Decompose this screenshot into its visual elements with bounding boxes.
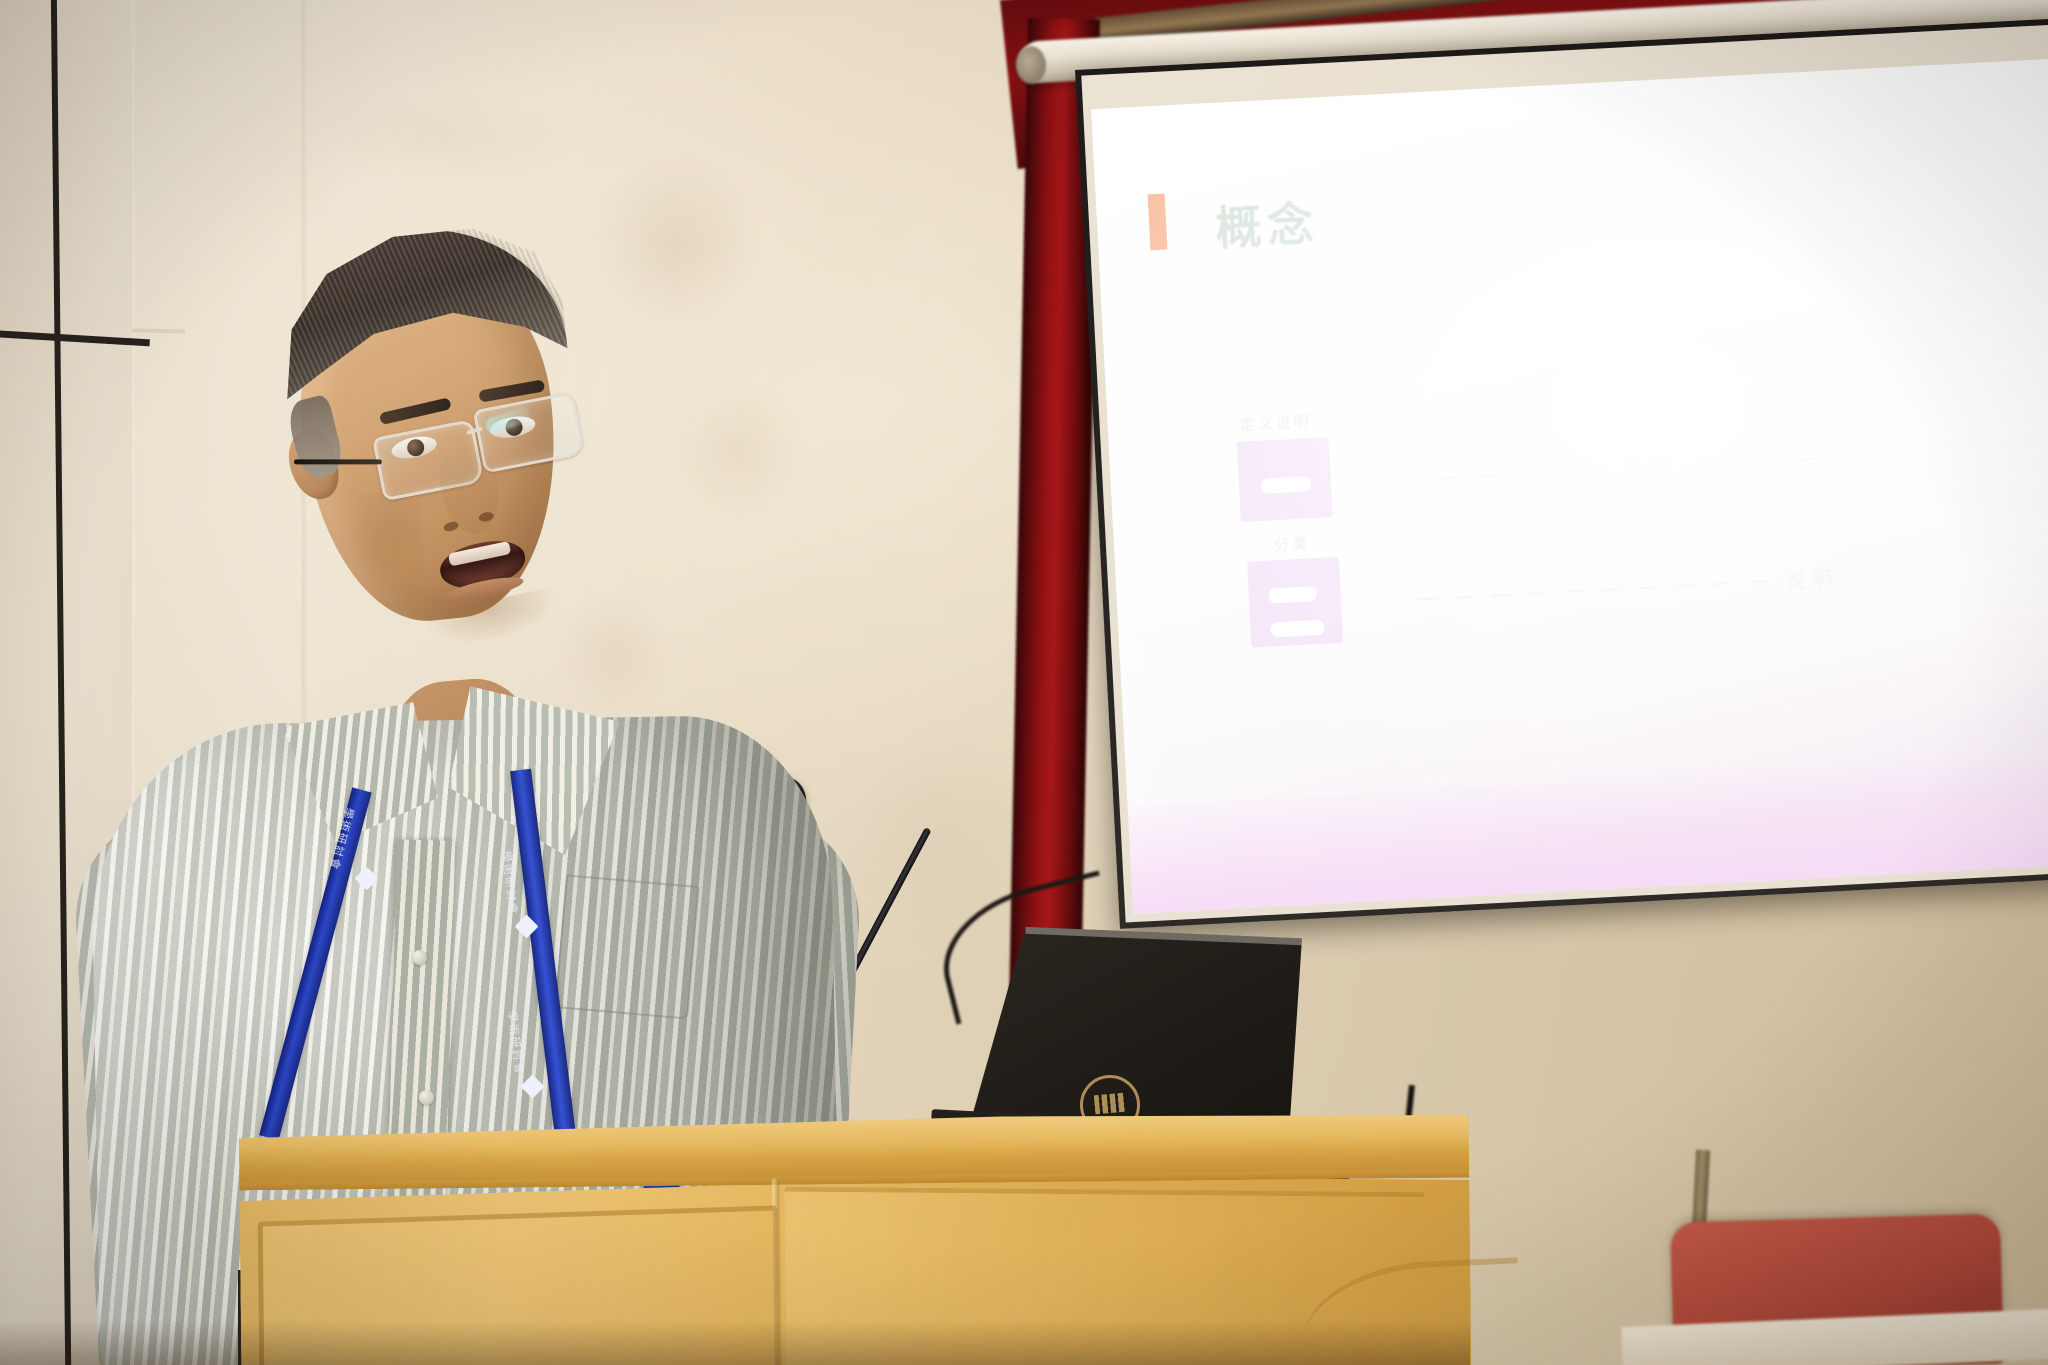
slide-block-two-bar-2	[1270, 620, 1325, 638]
slide-footer-band	[1128, 755, 2048, 914]
shirt-button-1	[412, 950, 427, 965]
slide-block-two-bar-1	[1268, 586, 1317, 603]
slide-accent-bar	[1148, 193, 1168, 250]
shirt-button-2	[419, 1090, 434, 1105]
head	[258, 221, 598, 650]
slide-block-one-bar	[1261, 476, 1312, 494]
slide-body-line-2: 一 一 一 一 一 一 一 一 一 一 说明	[1416, 563, 1837, 615]
cheek-shadow	[342, 487, 429, 604]
slide-chip-label-1: 定义说明	[1239, 410, 1312, 435]
projection-screen-assembly: 概念 定义说明 一 一 一 一 一 内容 一 一 一 一 分类 一 一 一 一 …	[1075, 18, 2048, 1069]
slide-body-line-1: 一 一 一 一 一 内容 一 一 一 一	[1440, 443, 1825, 493]
conference-photo-scene: 概念 定义说明 一 一 一 一 一 内容 一 一 一 一 分类 一 一 一 一 …	[0, 0, 2048, 1365]
eyeglass-temple-arm	[294, 459, 382, 464]
slide-title: 概念	[1214, 187, 1321, 258]
shirt-pocket	[554, 874, 699, 1019]
lectern-floor-shadow	[0, 1320, 1470, 1365]
projected-slide[interactable]: 概念 定义说明 一 一 一 一 一 内容 一 一 一 一 分类 一 一 一 一 …	[1091, 58, 2048, 914]
slide-chip-label-2: 分类	[1274, 532, 1311, 555]
